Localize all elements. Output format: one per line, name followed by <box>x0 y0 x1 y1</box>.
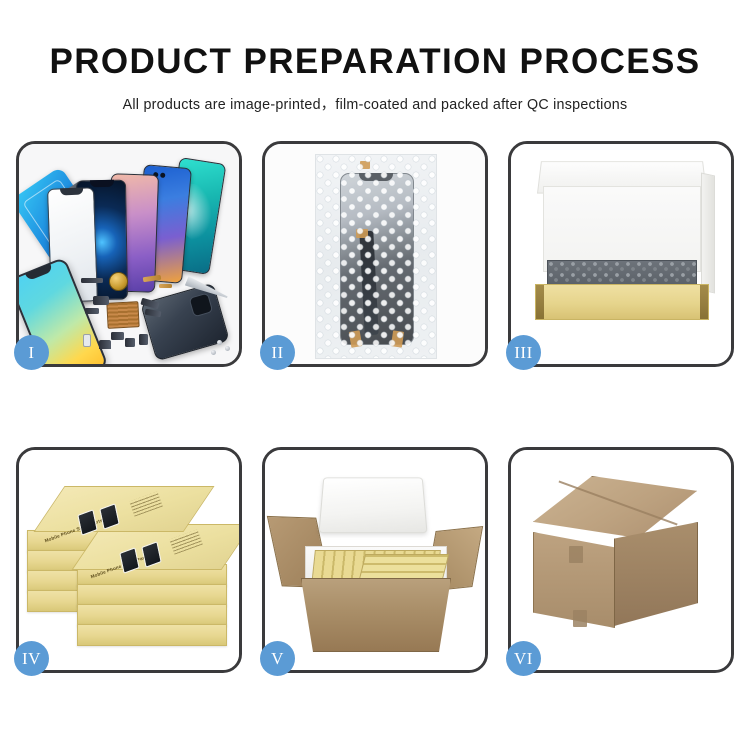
box-top-face-upper <box>33 486 214 532</box>
part-module <box>139 334 148 345</box>
stacked-box-7 <box>77 604 227 626</box>
step-badge-6: VI <box>506 641 541 676</box>
box-stack-icon: Mobile Phone Spare Parts Mobile Phone Sp… <box>25 472 239 662</box>
step-panel-3: III <box>508 141 734 367</box>
styrofoam-lid-icon <box>318 477 427 533</box>
bubble-texture <box>316 155 436 358</box>
step-image-6 <box>511 450 731 670</box>
step-badge-4: IV <box>14 641 49 676</box>
page-subtitle: All products are image-printed，film-coat… <box>0 93 750 114</box>
screw-3 <box>211 350 216 355</box>
part-strip-1 <box>81 278 103 283</box>
step-panel-2: II <box>262 141 488 367</box>
step-badge-3: III <box>506 335 541 370</box>
carton-tape-upper <box>569 546 583 563</box>
step-image-3 <box>511 144 731 364</box>
step-panel-1: I <box>16 141 242 367</box>
carton-body-icon <box>301 578 451 652</box>
part-camera <box>99 340 111 349</box>
step-image-4: Mobile Phone Spare Parts Mobile Phone Sp… <box>19 450 239 670</box>
step-panel-5: V <box>262 447 488 673</box>
step-panel-6: VI <box>508 447 734 673</box>
stacked-box-8 <box>77 624 227 646</box>
box-side-panel <box>701 173 715 294</box>
step-badge-1: I <box>14 335 49 370</box>
chip-grid-icon <box>106 301 139 329</box>
part-button <box>125 338 135 347</box>
page-title: PRODUCT PREPARATION PROCESS <box>0 44 750 81</box>
product-preparation-page: PRODUCT PREPARATION PROCESS All products… <box>0 0 750 750</box>
page-header: PRODUCT PREPARATION PROCESS All products… <box>0 0 750 114</box>
carton-right-face <box>614 522 698 626</box>
screw-2 <box>225 346 230 351</box>
bubble-bag-icon <box>315 154 437 359</box>
step-image-5 <box>265 450 485 670</box>
step-panel-4: Mobile Phone Spare Parts Mobile Phone Sp… <box>16 447 242 673</box>
box-front-panel <box>535 284 709 320</box>
process-steps-grid: I II <box>16 141 735 675</box>
part-connector-1 <box>93 296 109 305</box>
part-strip-3 <box>159 284 172 288</box>
speaker-coil-icon <box>109 272 128 291</box>
screw-1 <box>217 340 222 345</box>
part-connector-2 <box>85 308 99 314</box>
stacked-box-6 <box>77 584 227 606</box>
carton-tape-lower <box>573 610 587 627</box>
step-image-1 <box>19 144 239 364</box>
part-sim-tray <box>83 334 91 347</box>
step-badge-2: II <box>260 335 295 370</box>
step-badge-5: V <box>260 641 295 676</box>
part-ic-1 <box>111 332 124 340</box>
step-image-2 <box>265 144 485 364</box>
